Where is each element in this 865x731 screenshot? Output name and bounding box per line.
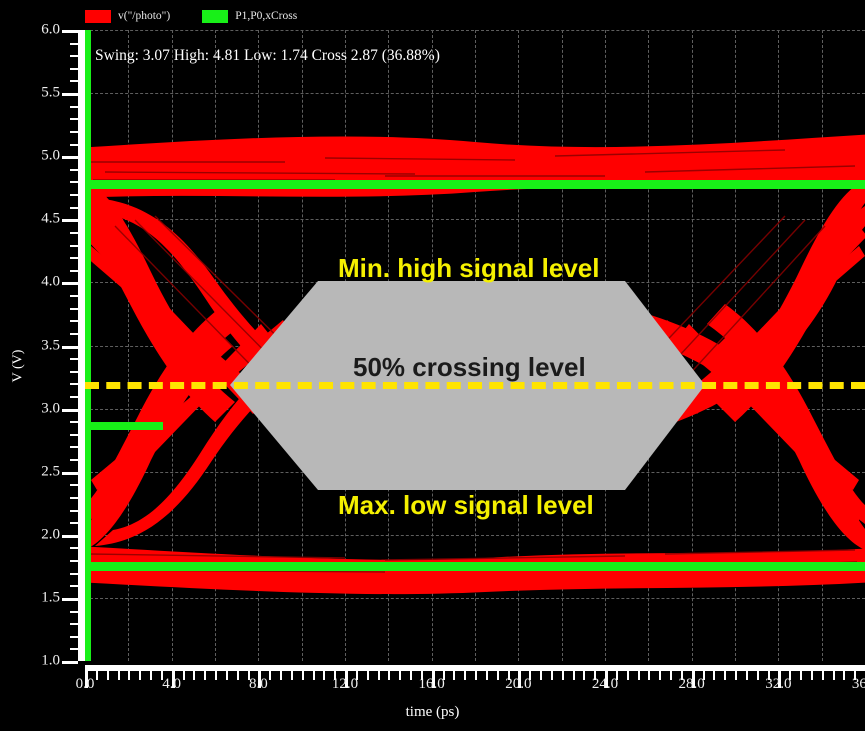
y-tick-label: 6.0 (14, 22, 60, 39)
x-tick-minor (96, 671, 98, 680)
x-tick-minor (475, 671, 477, 680)
x-tick-minor (410, 671, 412, 680)
y-tick-minor (70, 55, 78, 57)
x-tick-minor (551, 671, 553, 680)
x-tick-label: 4.0 (162, 676, 181, 693)
x-tick-minor (713, 671, 715, 680)
x-tick-minor (193, 671, 195, 680)
y-axis-label: V (V) (0, 0, 48, 731)
legend-item-trace-photo: v("/photo") (85, 10, 170, 23)
y-tick-label: 1.0 (14, 653, 60, 670)
y-tick-minor (70, 333, 78, 335)
x-tick-minor (107, 671, 109, 680)
x-tick-minor (378, 671, 380, 680)
y-tick-label: 5.0 (14, 148, 60, 165)
y-tick-minor (70, 484, 78, 486)
annotation-crossing-level: 50% crossing level (353, 352, 586, 383)
x-tick-minor (356, 671, 358, 680)
x-tick-minor (183, 671, 185, 680)
y-tick-major (62, 282, 78, 285)
x-tick-minor (453, 671, 455, 680)
y-tick-minor (70, 93, 78, 95)
y-tick-minor (70, 257, 78, 259)
x-tick-minor (269, 671, 271, 680)
legend-item-markers: P1,P0,xCross (202, 10, 297, 23)
x-tick-minor (833, 671, 835, 680)
x-tick-minor (388, 671, 390, 680)
x-tick-minor (128, 671, 130, 680)
y-tick-minor (70, 169, 78, 171)
y-tick-minor (70, 358, 78, 360)
y-tick-minor (70, 30, 78, 32)
marker-p1-high-line (85, 180, 865, 189)
y-tick-minor (70, 648, 78, 650)
y-tick-minor (70, 106, 78, 108)
x-tick-minor (291, 671, 293, 680)
y-tick-minor (70, 636, 78, 638)
y-tick-minor (70, 118, 78, 120)
x-tick-minor (540, 671, 542, 680)
y-tick-minor (70, 547, 78, 549)
x-tick-minor (562, 671, 564, 680)
y-tick-minor (70, 320, 78, 322)
x-tick-minor (443, 671, 445, 680)
y-tick-major (62, 472, 78, 475)
x-tick-minor (497, 671, 499, 680)
x-tick-minor (323, 671, 325, 680)
x-tick-minor (237, 671, 239, 680)
x-tick-minor (508, 671, 510, 680)
x-tick-minor (161, 671, 163, 680)
x-axis-label: time (ps) (0, 704, 865, 721)
y-tick-minor (70, 207, 78, 209)
crossing-level-line (85, 382, 865, 389)
y-tick-minor (70, 245, 78, 247)
y-tick-minor (70, 80, 78, 82)
x-tick-minor (648, 671, 650, 680)
x-tick-minor (735, 671, 737, 680)
y-tick-label: 3.5 (14, 337, 60, 354)
y-tick-label: 5.5 (14, 85, 60, 102)
x-tick-minor (616, 671, 618, 680)
x-tick-minor (627, 671, 629, 680)
y-tick-minor (70, 43, 78, 45)
x-tick-minor (746, 671, 748, 680)
x-tick-minor (204, 671, 206, 680)
x-tick-minor (843, 671, 845, 680)
y-tick-minor (70, 144, 78, 146)
annotation-max-low-level: Max. low signal level (338, 490, 594, 521)
x-tick-minor (226, 671, 228, 680)
y-tick-label: 4.0 (14, 274, 60, 291)
x-tick-minor (464, 671, 466, 680)
y-tick-minor (70, 573, 78, 575)
x-tick-minor (789, 671, 791, 680)
marker-p0-low-line (85, 562, 865, 571)
x-tick-minor (811, 671, 813, 680)
y-tick-major (62, 219, 78, 222)
y-tick-minor (70, 585, 78, 587)
marker-xcross-level-line (85, 422, 163, 430)
marker-crossing-time-line (85, 30, 91, 661)
y-tick-minor (70, 510, 78, 512)
x-tick-minor (215, 671, 217, 680)
x-tick-label: 8.0 (249, 676, 268, 693)
x-tick-minor (248, 671, 250, 680)
y-tick-minor (70, 68, 78, 70)
eye-diagram-figure: v("/photo") P1,P0,xCross V (V) time (ps)… (0, 0, 865, 731)
x-tick-minor (313, 671, 315, 680)
x-tick-minor (118, 671, 120, 680)
legend-swatch-green (202, 10, 228, 23)
x-tick-minor (670, 671, 672, 680)
x-tick-minor (822, 671, 824, 680)
y-tick-minor (70, 421, 78, 423)
annotation-min-high-level: Min. high signal level (338, 253, 600, 284)
x-tick-minor (421, 671, 423, 680)
y-tick-minor (70, 232, 78, 234)
y-tick-minor (70, 623, 78, 625)
x-tick-minor (334, 671, 336, 680)
y-tick-minor (70, 459, 78, 461)
legend-label-trace-photo: v("/photo") (118, 10, 170, 22)
y-tick-minor (70, 308, 78, 310)
y-tick-minor (70, 181, 78, 183)
x-tick-minor (367, 671, 369, 680)
y-tick-minor (70, 396, 78, 398)
x-tick-minor (573, 671, 575, 680)
y-tick-label: 4.5 (14, 211, 60, 228)
y-axis-spine (78, 30, 85, 661)
y-tick-major (62, 661, 78, 664)
y-tick-major (62, 346, 78, 349)
x-tick-minor (399, 671, 401, 680)
y-tick-minor (70, 560, 78, 562)
y-tick-label: 3.0 (14, 400, 60, 417)
x-tick-minor (594, 671, 596, 680)
y-tick-major (62, 598, 78, 601)
legend-swatch-red (85, 10, 111, 23)
x-tick-minor (681, 671, 683, 680)
x-tick-minor (583, 671, 585, 680)
x-tick-minor (659, 671, 661, 680)
x-tick-minor (139, 671, 141, 680)
y-axis-label-text: V (V) (10, 349, 26, 382)
y-tick-label: 2.0 (14, 526, 60, 543)
x-tick-minor (486, 671, 488, 680)
x-tick-minor (703, 671, 705, 680)
measurement-readout: Swing: 3.07 High: 4.81 Low: 1.74 Cross 2… (95, 47, 440, 65)
x-tick-minor (757, 671, 759, 680)
x-tick-minor (768, 671, 770, 680)
y-tick-minor (70, 295, 78, 297)
plot-area: Min. high signal level 50% crossing leve… (85, 30, 865, 661)
y-tick-minor (70, 434, 78, 436)
y-tick-minor (70, 611, 78, 613)
y-tick-minor (70, 446, 78, 448)
y-tick-minor (70, 131, 78, 133)
legend-label-markers: P1,P0,xCross (235, 10, 297, 22)
y-tick-minor (70, 156, 78, 158)
y-tick-label: 1.5 (14, 589, 60, 606)
x-tick-minor (150, 671, 152, 680)
x-tick-minor (724, 671, 726, 680)
x-tick-minor (638, 671, 640, 680)
x-tick-minor (529, 671, 531, 680)
legend: v("/photo") P1,P0,xCross (85, 6, 297, 26)
x-tick-minor (302, 671, 304, 680)
x-tick-minor (800, 671, 802, 680)
y-tick-minor (70, 497, 78, 499)
x-tick-label: 0.0 (76, 676, 95, 693)
y-tick-minor (70, 371, 78, 373)
x-tick-minor (854, 671, 856, 680)
y-tick-major (62, 535, 78, 538)
y-tick-label: 2.5 (14, 463, 60, 480)
y-tick-major (62, 409, 78, 412)
y-tick-minor (70, 383, 78, 385)
y-tick-minor (70, 194, 78, 196)
x-tick-minor (280, 671, 282, 680)
y-tick-minor (70, 270, 78, 272)
y-tick-minor (70, 522, 78, 524)
